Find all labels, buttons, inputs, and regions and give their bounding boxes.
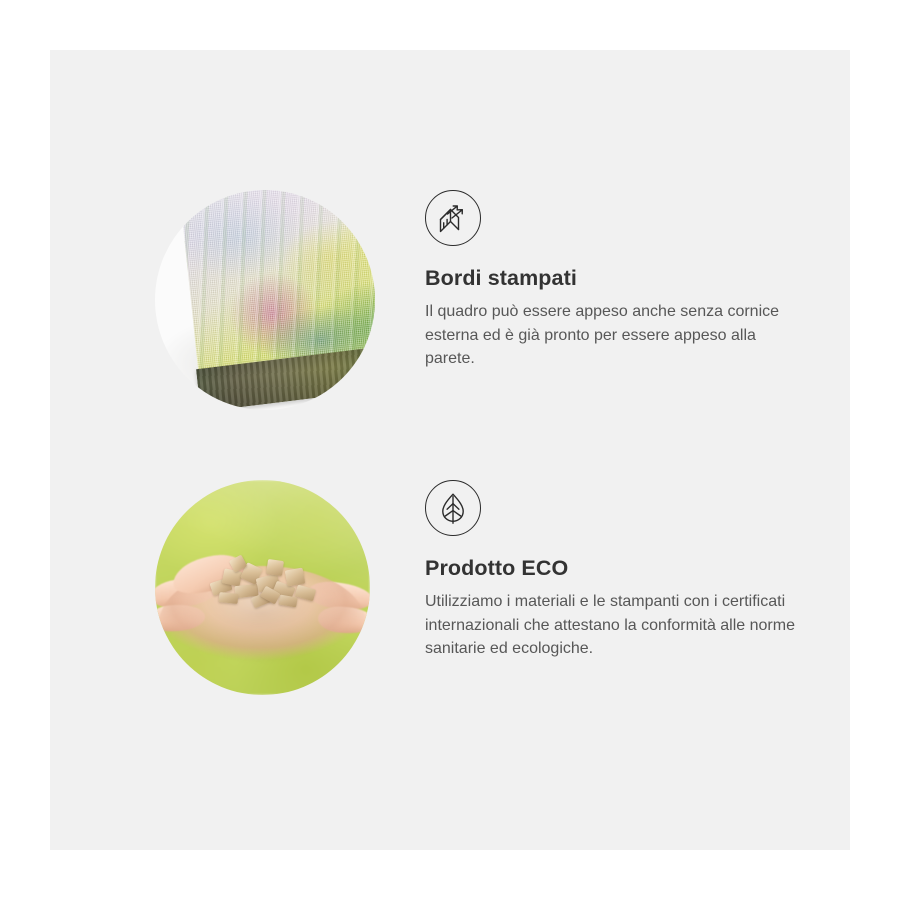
canvas-photo-artwork (155, 190, 375, 410)
canvas-corner-photo (155, 190, 375, 410)
feature-printed-edges-content: Bordi stampati Il quadro può essere appe… (425, 190, 805, 371)
feature-description: Utilizziamo i materiali e le stampanti c… (425, 590, 795, 661)
printed-edges-glyph (436, 201, 470, 235)
printed-edges-icon (425, 190, 481, 246)
eco-photo-artwork (155, 480, 370, 695)
leaf-icon (425, 480, 481, 536)
feature-title: Bordi stampati (425, 266, 805, 291)
content-panel: Bordi stampati Il quadro può essere appe… (50, 50, 850, 850)
feature-description: Il quadro può essere appeso anche senza … (425, 300, 795, 371)
feature-title: Prodotto ECO (425, 556, 805, 581)
feature-eco-content: Prodotto ECO Utilizziamo i materiali e l… (425, 480, 805, 661)
leaf-glyph (436, 491, 470, 525)
product-feature-banner: Bordi stampati Il quadro può essere appe… (0, 0, 900, 900)
photo-gloss (155, 190, 375, 410)
photo-shading (155, 480, 370, 695)
wood-chips-in-hands-photo (155, 480, 370, 695)
